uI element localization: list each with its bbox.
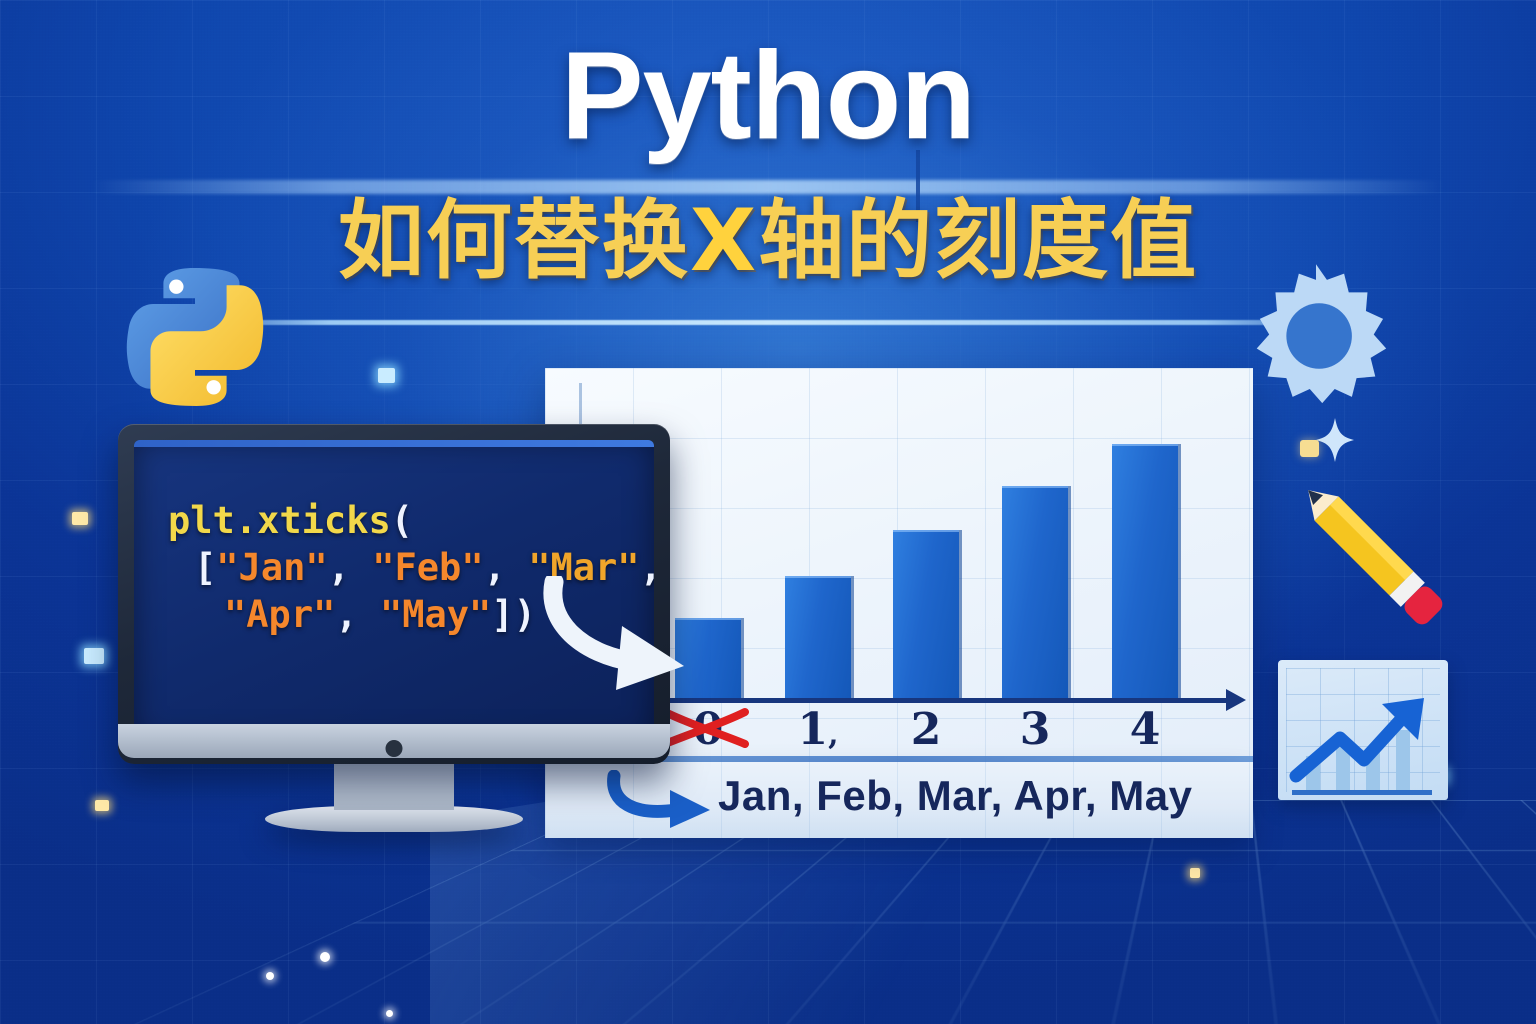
code-token: "May"	[380, 593, 491, 636]
x-tick-label-4: 4	[1110, 704, 1180, 755]
x-tick-text: 0	[693, 704, 724, 755]
months-caption: Jan, Feb, Mar, Apr, May	[718, 772, 1192, 820]
code-token: plt.xticks	[168, 499, 391, 542]
python-logo	[104, 258, 286, 416]
subtitle-divider	[160, 320, 1376, 325]
particle	[386, 1010, 393, 1017]
particle	[378, 368, 395, 383]
sparkle-icon	[1316, 418, 1354, 462]
page-title: Python	[0, 34, 1536, 158]
code-token: ,	[484, 546, 529, 589]
code-token: ,	[328, 546, 373, 589]
code-token: ,	[335, 593, 380, 636]
code-token: [	[194, 546, 216, 589]
particle	[320, 952, 330, 962]
trend-chart-arrow	[1278, 660, 1448, 800]
x-tick-comma: ,	[828, 717, 838, 752]
subtitle-part-3: 轴的刻度值	[758, 191, 1198, 291]
trend-chart-icon	[1278, 660, 1448, 800]
particle	[1190, 868, 1200, 878]
x-tick-label-1: 1,	[783, 704, 853, 755]
monitor-power-led	[386, 740, 403, 757]
particle	[72, 512, 88, 525]
code-token: "Apr"	[224, 593, 335, 636]
particle	[84, 648, 104, 664]
pencil-icon	[1290, 472, 1472, 654]
chart-top-tick	[579, 383, 582, 425]
x-tick-text: 4	[1130, 704, 1161, 755]
code-token: (	[391, 499, 413, 542]
x-tick-label-3: 3	[1000, 704, 1070, 755]
x-tick-label-2: 2	[891, 704, 961, 755]
gear-icon	[1238, 258, 1394, 414]
poster-canvas: Python 如何替换X轴的刻度值 0	[0, 0, 1536, 1024]
subtitle-highlight-x: X	[690, 191, 758, 291]
subtitle-part-1: 如何替换	[338, 191, 690, 291]
x-tick-text: 2	[911, 704, 942, 755]
code-token: "Jan"	[216, 546, 327, 589]
white-curved-arrow-icon	[538, 576, 690, 694]
particle	[266, 972, 274, 980]
bar-1	[785, 576, 851, 698]
x-tick-label-0: 0	[673, 704, 743, 755]
x-axis-line	[660, 698, 1232, 703]
bar-2	[893, 530, 959, 698]
bar-3	[1002, 486, 1068, 698]
x-tick-text: 3	[1020, 704, 1051, 755]
code-line-1: plt.xticks(	[168, 498, 644, 545]
bar-4	[1112, 444, 1178, 698]
code-token: "Feb"	[372, 546, 483, 589]
x-tick-text: 1	[797, 704, 828, 755]
axis-arrow-icon	[1226, 689, 1246, 711]
blue-curved-arrow-icon	[604, 770, 722, 828]
yellow-note-particle	[1300, 440, 1319, 457]
particle	[95, 800, 109, 811]
code-token: ])	[491, 593, 536, 636]
